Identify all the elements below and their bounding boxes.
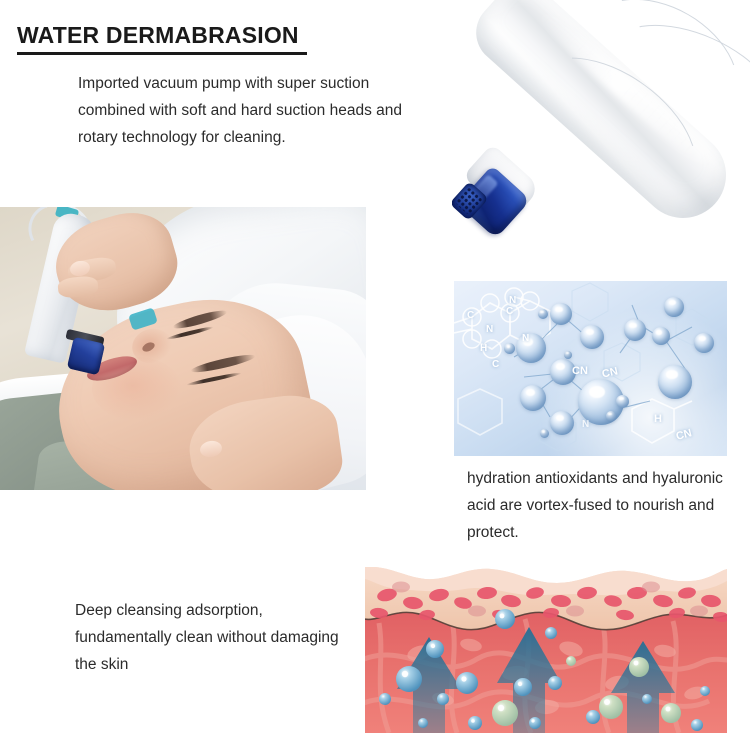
- water-droplet: [538, 309, 548, 319]
- atom-label-n: N: [486, 324, 493, 335]
- water-droplet: [516, 333, 546, 363]
- water-droplet: [664, 297, 684, 317]
- water-droplet: [504, 343, 515, 354]
- water-droplet: [550, 303, 572, 325]
- facial-treatment-image: [0, 207, 366, 490]
- water-droplet: [616, 395, 629, 408]
- group-label-cn: CN: [572, 365, 588, 377]
- water-droplet: [652, 327, 670, 345]
- atom-label-h: H: [654, 413, 662, 425]
- title-underline: [17, 52, 307, 55]
- water-droplet: [694, 333, 714, 353]
- atom-label-n: N: [522, 333, 529, 344]
- water-droplet: [658, 365, 692, 399]
- water-droplet: [580, 325, 604, 349]
- atom-label-h: H: [480, 343, 487, 354]
- skin-cross-section-image: [365, 567, 727, 733]
- water-droplet: [606, 411, 616, 421]
- atom-label-c: C: [506, 306, 513, 317]
- molecular-hydration-image: N C C N H C N CN CN H CN N: [454, 281, 727, 456]
- device-stage: [452, 0, 750, 240]
- product-detail-page: WATER DERMABRASION Imported vacuum pump …: [0, 0, 750, 750]
- atom-label-n: N: [509, 295, 516, 306]
- water-droplet: [540, 429, 549, 438]
- water-droplet: [564, 351, 572, 359]
- atom-label-n: N: [582, 419, 589, 430]
- atom-label-c: C: [467, 310, 474, 321]
- water-droplet: [624, 319, 646, 341]
- deep-cleansing-paragraph: Deep cleansing adsorption, fundamentally…: [75, 597, 355, 678]
- intro-paragraph: Imported vacuum pump with super suction …: [78, 70, 438, 151]
- water-droplet: [550, 411, 574, 435]
- page-title: WATER DERMABRASION: [17, 22, 299, 49]
- device-handpiece-image: [452, 0, 750, 240]
- water-droplet: [520, 385, 546, 411]
- hydration-paragraph: hydration antioxidants and hyaluronic ac…: [467, 465, 737, 546]
- skin-layers-diagram: [365, 567, 727, 733]
- atom-label-c: C: [492, 359, 499, 370]
